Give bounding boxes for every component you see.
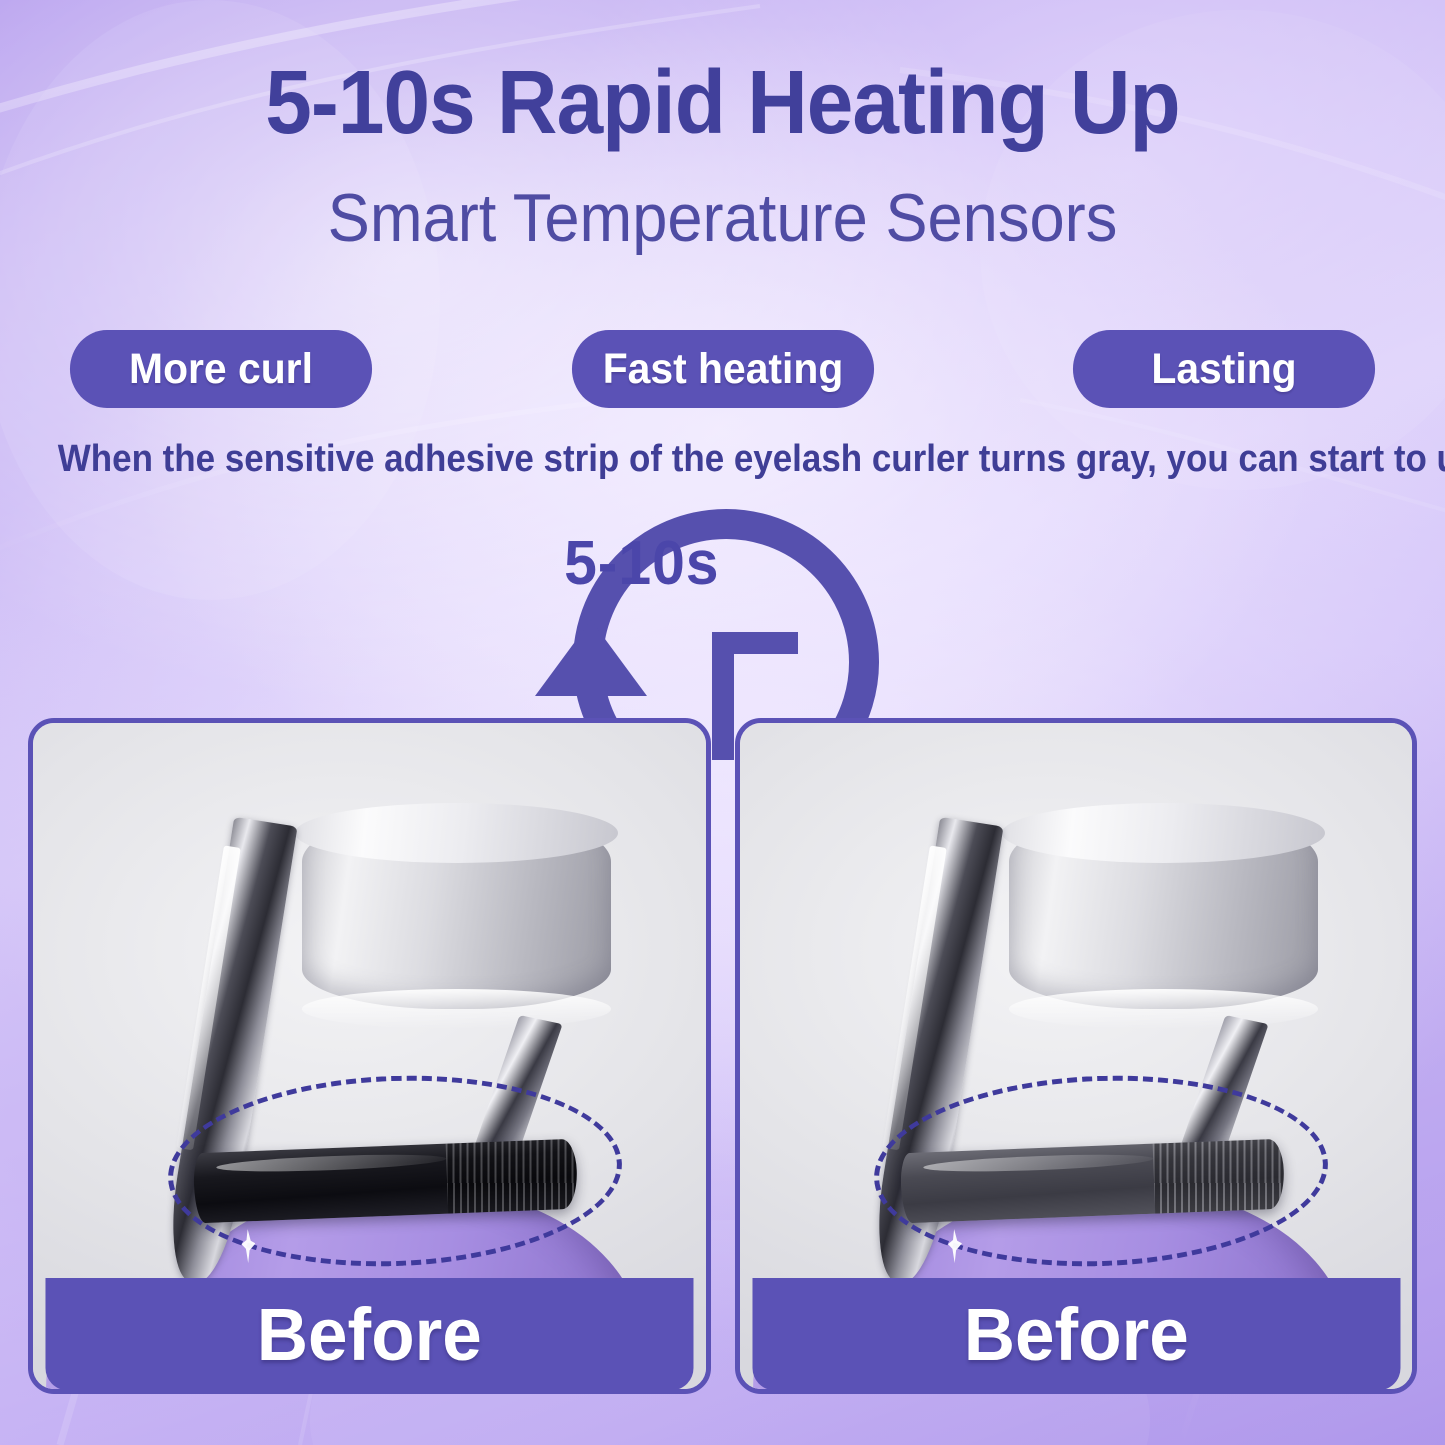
feature-pill-more-curl[interactable]: More curl: [70, 330, 372, 408]
comparison-card-left[interactable]: Before: [28, 718, 711, 1394]
page-title: 5-10s Rapid Heating Up: [51, 58, 1395, 148]
panel-caption-left: Before: [45, 1278, 693, 1390]
feature-pill-row: More curl Fast heating Lasting: [62, 330, 1383, 408]
panel-caption-right: Before: [752, 1278, 1400, 1390]
description-text: When the sensitive adhesive strip of the…: [58, 438, 1387, 481]
cycle-duration-label: 5-10s: [564, 528, 719, 599]
comparison-panels: Before Before: [28, 718, 1417, 1394]
comparison-card-right[interactable]: Before: [735, 718, 1418, 1394]
feature-pill-lasting[interactable]: Lasting: [1073, 330, 1375, 408]
curler-head-shadow-right: [1009, 989, 1318, 1029]
curler-head-shadow-left: [302, 989, 611, 1029]
feature-pill-fast-heating[interactable]: Fast heating: [571, 330, 873, 408]
curler-head-rim-left: [295, 803, 618, 863]
product-infographic: 5-10s Rapid Heating Up Smart Temperature…: [0, 0, 1445, 1445]
curler-head-rim-right: [1002, 803, 1325, 863]
page-subtitle: Smart Temperature Sensors: [51, 184, 1395, 252]
